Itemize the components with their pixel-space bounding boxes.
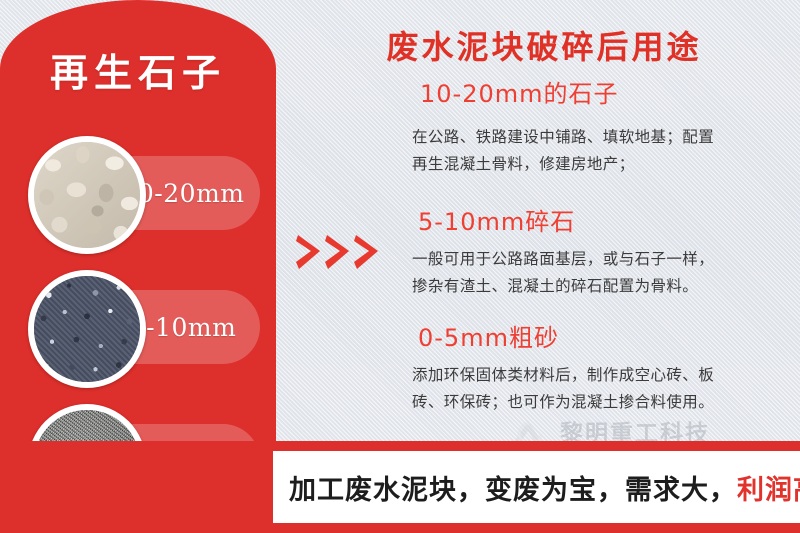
stone-circle-10-20mm (28, 136, 146, 254)
page-title: 废水泥块破碎后用途 (296, 22, 792, 68)
section-body-5-10mm: 一般可用于公路路面基层，或与石子一样， 掺杂有渣土、混凝土的碎石配置为骨料。 (412, 246, 792, 300)
bottom-banner-text-plain: 加工废水泥块，变废为宝，需求大， (289, 475, 737, 506)
section-body-line: 一般可用于公路路面基层，或与石子一样， (412, 246, 792, 273)
section-body-line: 砖、环保砖；也可作为混凝土掺合料使用。 (412, 389, 792, 416)
section-body-line: 掺杂有渣土、混凝土的碎石配置为骨料。 (412, 273, 792, 300)
poster-root: 再生石子 10-20mm 5-10mm 0-5mm 废水泥块破碎后用途 (0, 0, 800, 533)
section-heading-10-20mm: 10-20mm的石子 (420, 74, 619, 109)
bottom-banner-text-highlight: 利润高 (737, 475, 800, 506)
bottom-banner-text: 加工废水泥块，变废为宝，需求大，利润高 (289, 468, 800, 507)
sample-row-10-20mm[interactable]: 10-20mm (0, 128, 276, 260)
bottom-banner-inner: 加工废水泥块，变废为宝，需求大，利润高 (273, 451, 800, 523)
section-body-line: 添加环保固体类材料后，制作成空心砖、板 (412, 362, 792, 389)
section-heading-5-10mm: 5-10mm碎石 (418, 202, 575, 237)
sample-row-5-10mm[interactable]: 5-10mm (0, 262, 276, 394)
stone-circle-5-10mm (28, 270, 146, 388)
section-body-10-20mm: 在公路、铁路建设中铺路、填软地基；配置 再生混凝土骨料，修建房地产； (412, 124, 792, 178)
section-body-line: 在公路、铁路建设中铺路、填软地基；配置 (412, 124, 792, 151)
bottom-banner: 加工废水泥块，变废为宝，需求大，利润高 (0, 441, 800, 533)
section-heading-0-5mm: 0-5mm粗砂 (418, 318, 559, 353)
triple-chevron-right-icon (296, 232, 380, 272)
left-panel-title: 再生石子 (0, 42, 276, 97)
section-body-line: 再生混凝土骨料，修建房地产； (412, 151, 792, 178)
section-body-0-5mm: 添加环保固体类材料后，制作成空心砖、板 砖、环保砖；也可作为混凝土掺合料使用。 (412, 362, 792, 416)
